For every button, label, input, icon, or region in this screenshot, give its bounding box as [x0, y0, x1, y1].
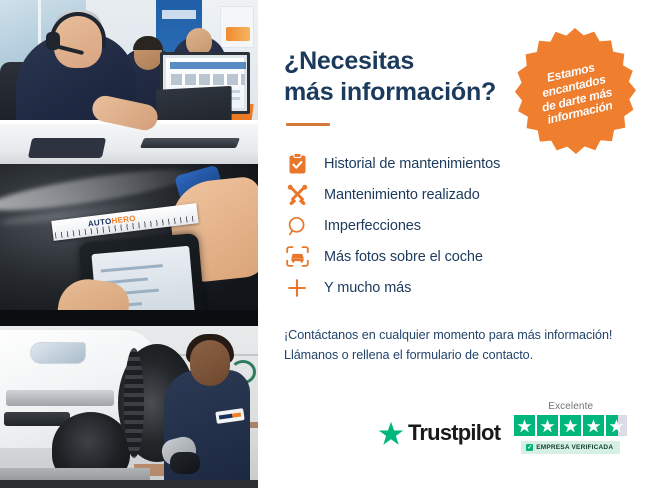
laptop-base: [140, 138, 240, 148]
trustpilot-logo: Trustpilot: [378, 420, 500, 454]
feature-item-maintenance-done: Mantenimiento realizado: [284, 179, 624, 210]
desk-mat: [28, 138, 106, 158]
trustpilot-star-icon: [378, 421, 404, 446]
verified-label: EMPRESA VERIFICADA: [536, 444, 613, 451]
monitor-header-bar: [170, 62, 246, 69]
content-panel: ¿Necesitas más información? Historial de…: [258, 0, 650, 488]
page-title-line-2: más información?: [284, 78, 496, 106]
photo-inspection-ruler-on-car: AUTOHERO: [0, 164, 258, 326]
monitor-thumbnails: [171, 74, 245, 85]
photo-column: AUTOHERO: [0, 0, 258, 488]
title-divider: [286, 123, 330, 126]
car-lower-grille: [4, 412, 70, 426]
contact-line-1: ¡Contáctanos en cualquier momento para m…: [284, 328, 612, 342]
plus-icon: [284, 275, 310, 301]
tire-tread: [124, 348, 144, 458]
mechanic-head: [190, 340, 230, 386]
feature-label: Historial de mantenimientos: [324, 156, 500, 172]
star-filled-2: [537, 415, 558, 436]
badge-text: Estamos encantados de darte más informac…: [535, 59, 617, 128]
star-filled-3: [560, 415, 581, 436]
contact-text: ¡Contáctanos en cualquier momento para m…: [284, 325, 624, 366]
feature-list: Historial de mantenimientos Mantenimient…: [284, 148, 624, 303]
contact-line-2: Llámanos o rellena el formulario de cont…: [284, 348, 533, 362]
car-headlight: [30, 342, 86, 364]
tools-icon: [284, 182, 310, 208]
feature-item-more-photos: Más fotos sobre el coche: [284, 241, 624, 272]
trustpilot-wordmark: Trustpilot: [408, 420, 500, 446]
star-filled-1: [514, 415, 535, 436]
feature-label: Más fotos sobre el coche: [324, 249, 483, 265]
clipboard-check-icon: [284, 151, 310, 177]
feature-item-imperfections: Imperfecciones: [284, 210, 624, 241]
check-icon: ✓: [526, 444, 533, 451]
feature-label: Y mucho más: [324, 280, 411, 296]
wall-poster: [220, 6, 254, 48]
photo-2-shadow: [0, 310, 258, 326]
photo-mechanic-checking-wheel: [0, 326, 258, 488]
trustpilot-rating-label: Excelente: [548, 401, 593, 412]
trustpilot-stars: [514, 415, 627, 436]
photo-call-center-agent-with-headset: [0, 0, 258, 164]
status-badge-verified-company: ✓ EMPRESA VERIFICADA: [521, 441, 620, 454]
star-partial-5: [606, 415, 627, 436]
tablet-row-1: [101, 264, 163, 272]
feature-item-much-more: Y mucho más: [284, 272, 624, 303]
badge-content: Estamos encantados de darte más informac…: [497, 13, 650, 169]
car-photo-frame-icon: [284, 244, 310, 270]
starburst-badge: Estamos encantados de darte más informac…: [510, 26, 640, 156]
trustpilot-score-block: Excelente: [514, 401, 627, 454]
magnifier-icon: [284, 213, 310, 239]
mechanic-glove-dark: [170, 452, 200, 474]
trustpilot-rating[interactable]: Trustpilot Excelente: [378, 401, 627, 454]
star-filled-4: [583, 415, 604, 436]
workshop-floor: [0, 480, 258, 488]
page-title-line-1: ¿Necesitas: [284, 47, 414, 75]
car-bumper-grille: [6, 390, 114, 406]
info-banner: AUTOHERO: [0, 0, 650, 488]
feature-label: Imperfecciones: [324, 218, 421, 234]
feature-label: Mantenimiento realizado: [324, 187, 480, 203]
